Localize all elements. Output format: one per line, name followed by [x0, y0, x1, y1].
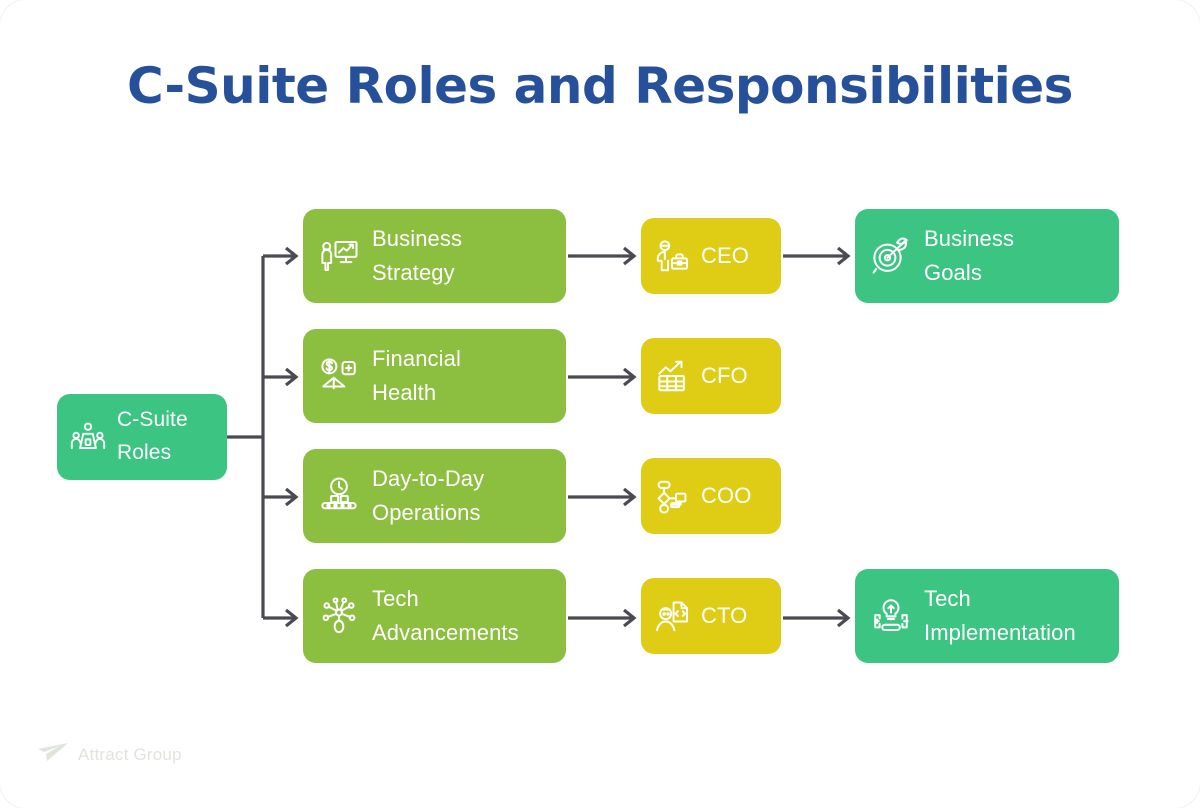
arrowhead-cto [624, 610, 634, 626]
node-cfo[interactable]: CFO [641, 338, 781, 414]
arrowhead-cfo [624, 369, 634, 385]
node-day-to-day-operations[interactable]: Day-to-Day Operations [303, 449, 566, 543]
presenter-chart-icon [318, 235, 372, 277]
watermark: Attract Group [37, 742, 182, 767]
balance-scale-dollar-icon [318, 355, 372, 397]
paper-plane-icon [37, 742, 69, 767]
node-financial-health[interactable]: Financial Health [303, 329, 566, 423]
node-label: CFO [701, 359, 748, 393]
node-tech-implementation[interactable]: Tech Implementation [855, 569, 1119, 663]
node-label: Tech Advancements [372, 582, 519, 650]
workflow-nodes-icon [653, 477, 701, 515]
node-label: Day-to-Day Operations [372, 462, 484, 530]
node-label: CEO [701, 239, 749, 273]
node-ceo[interactable]: CEO [641, 218, 781, 294]
arrowhead-coo [624, 489, 634, 505]
conveyor-clock-icon [318, 475, 372, 517]
arrowhead-branch-4 [286, 610, 296, 626]
node-label: Business Strategy [372, 222, 462, 290]
arrowhead-branch-1 [286, 248, 296, 264]
node-business-goals[interactable]: Business Goals [855, 209, 1119, 303]
growth-chart-icon [653, 357, 701, 395]
node-business-strategy[interactable]: Business Strategy [303, 209, 566, 303]
businessperson-briefcase-icon [653, 237, 701, 275]
node-label: COO [701, 479, 751, 513]
developer-code-icon [653, 597, 701, 635]
node-label: C-Suite Roles [117, 404, 188, 469]
arrowhead-implementation [838, 610, 848, 626]
node-label: Business Goals [924, 222, 1014, 290]
node-tech-advancements[interactable]: Tech Advancements [303, 569, 566, 663]
watermark-text: Attract Group [78, 745, 182, 765]
node-coo[interactable]: COO [641, 458, 781, 534]
page-title: C-Suite Roles and Responsibilities [0, 57, 1200, 115]
network-molecule-icon [318, 595, 372, 637]
node-label: Tech Implementation [924, 582, 1076, 650]
node-label: Financial Health [372, 342, 461, 410]
team-podium-icon [69, 418, 117, 456]
target-arrow-icon [870, 235, 924, 277]
node-cto[interactable]: CTO [641, 578, 781, 654]
arrowhead-ceo [624, 248, 634, 264]
node-label: CTO [701, 599, 747, 633]
lightbulb-circuit-icon [870, 595, 924, 637]
diagram-canvas: C-Suite Roles and Responsibilities [0, 0, 1200, 808]
arrowhead-goals [838, 248, 848, 264]
node-c-suite-roles[interactable]: C-Suite Roles [57, 394, 227, 480]
arrowhead-branch-3 [286, 489, 296, 505]
arrowhead-branch-2 [286, 369, 296, 385]
